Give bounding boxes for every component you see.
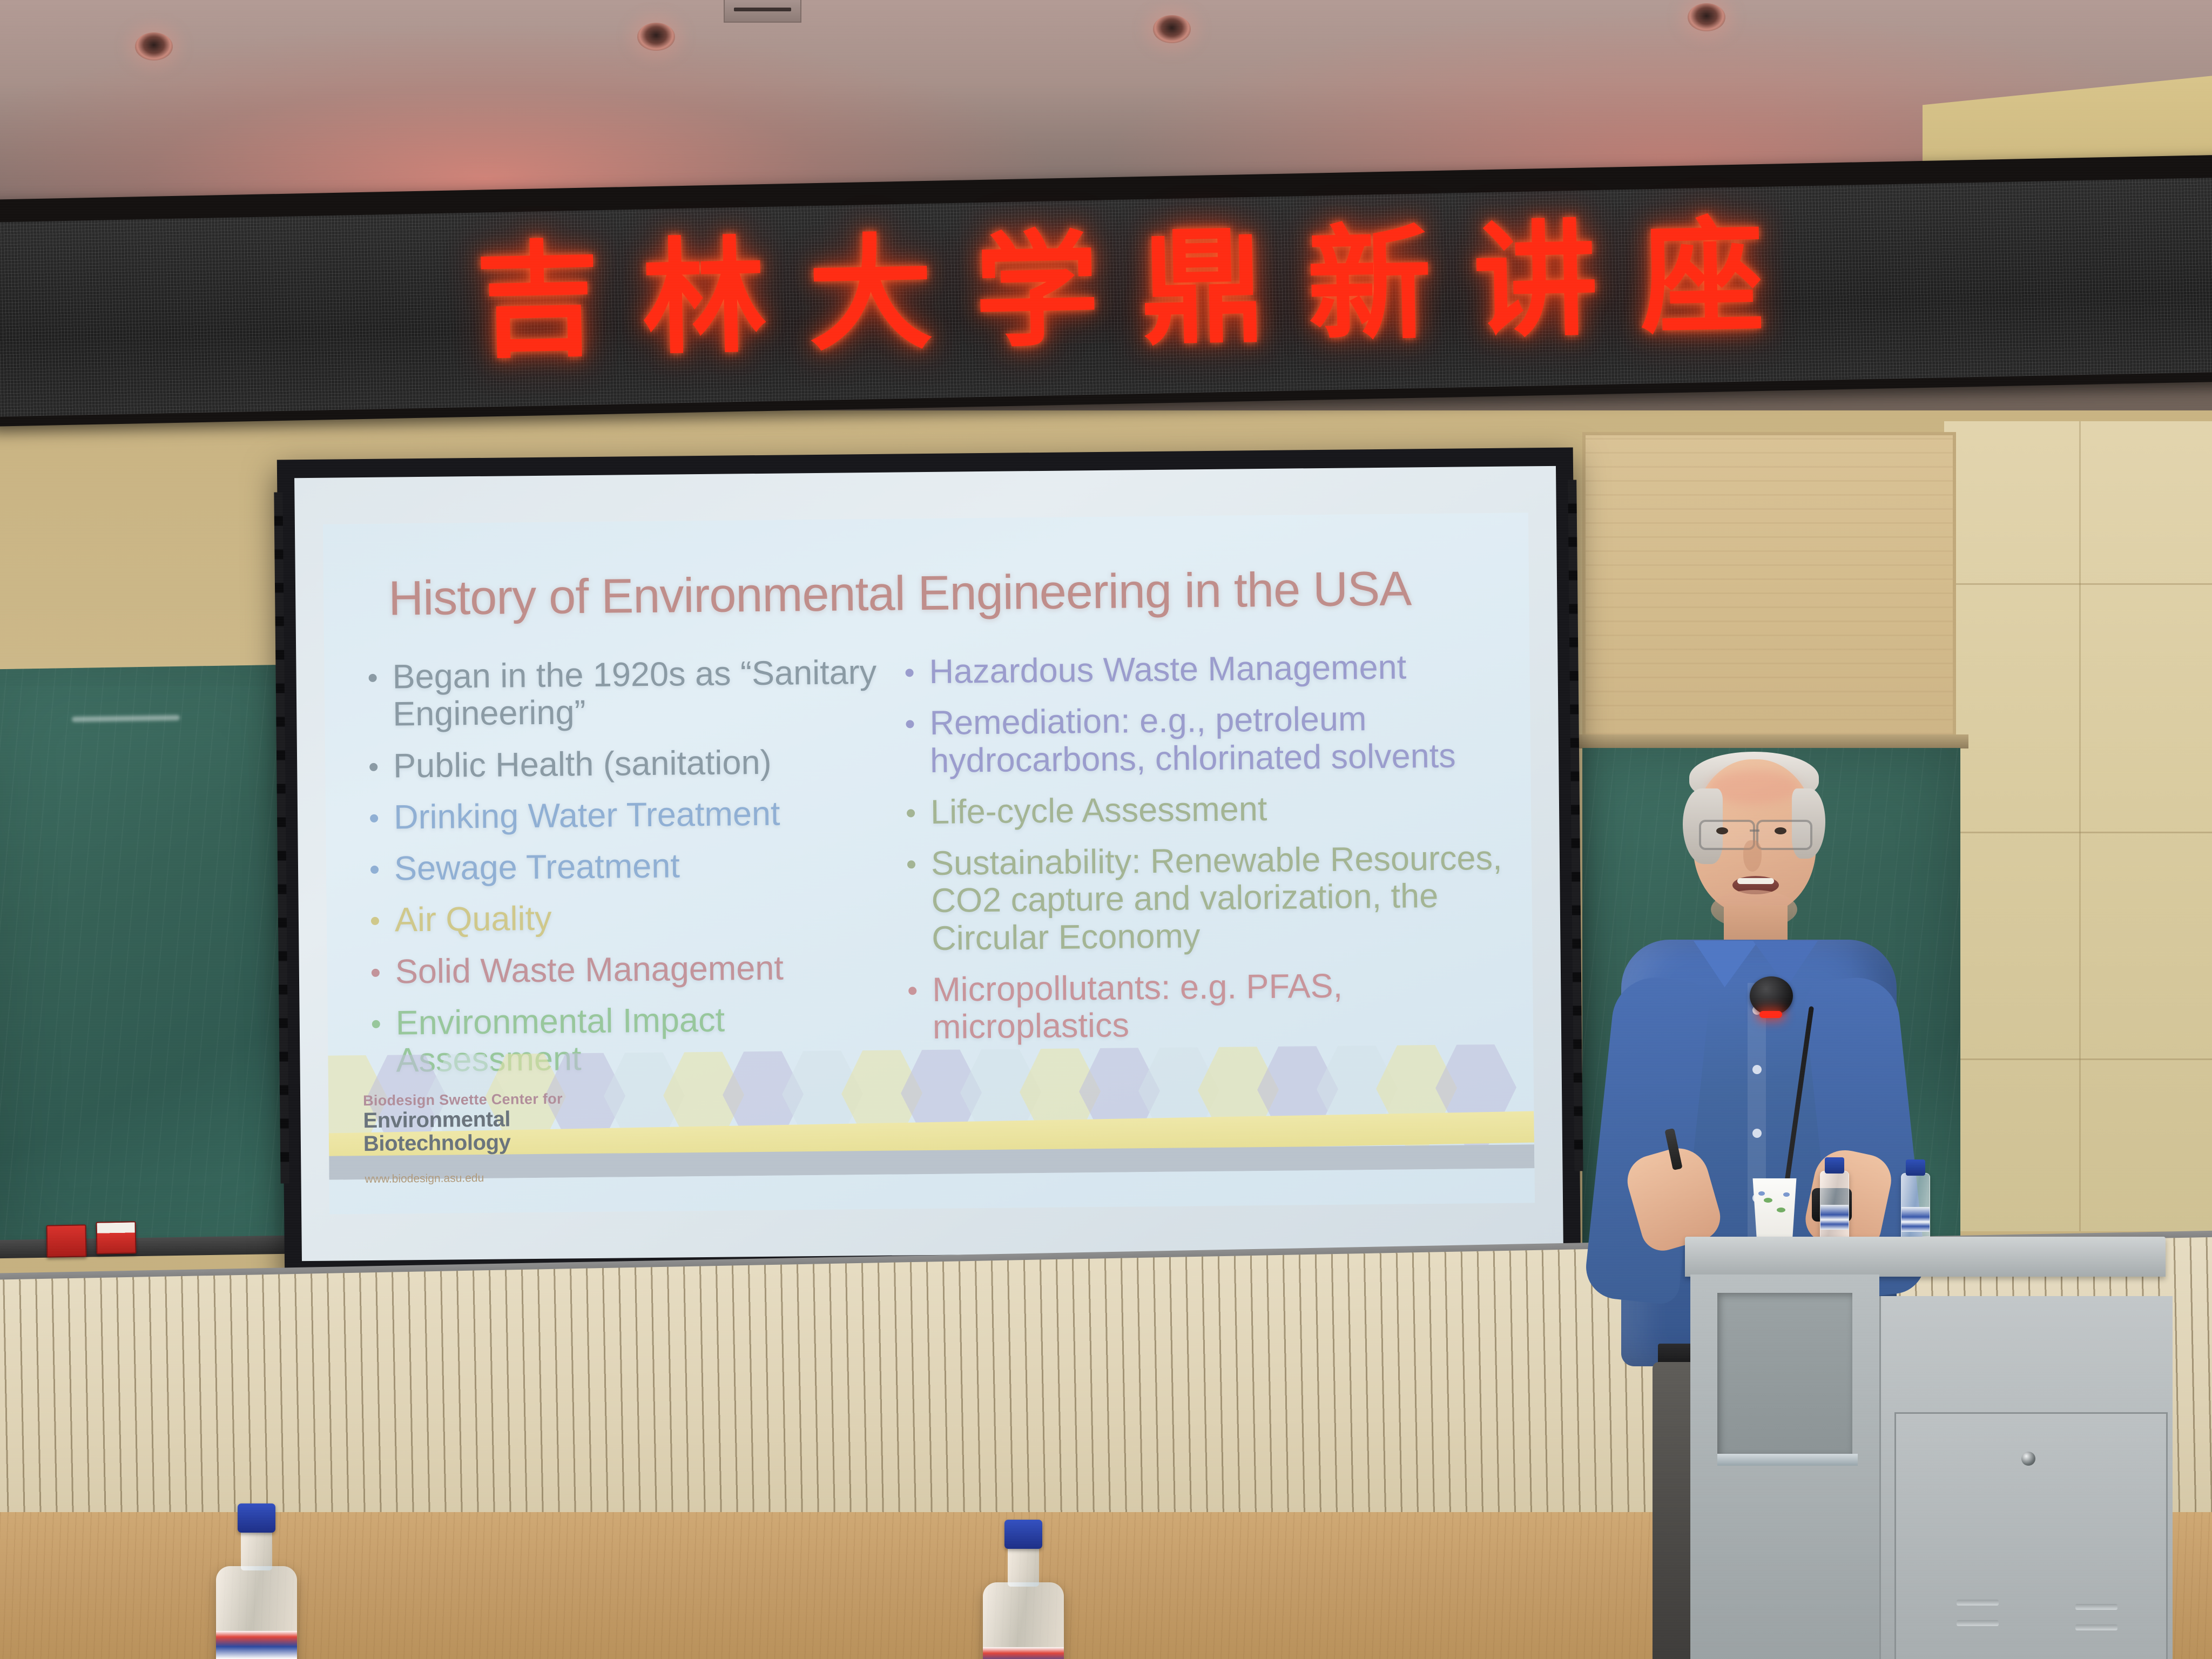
podium-cabinet [1879, 1296, 2173, 1659]
bullet-dot-icon [371, 917, 379, 925]
presentation-slide: History of Environmental Engineering in … [323, 512, 1535, 1214]
bottle-cap [1906, 1159, 1925, 1176]
lock-icon[interactable] [2021, 1452, 2035, 1466]
bottle-label [983, 1647, 1064, 1659]
bullet-dot-icon [372, 969, 380, 977]
bullet-text: Life-cycle Assessment [930, 790, 1267, 831]
cabinet-vent [1957, 1600, 1999, 1606]
list-item: Micropollutants: e.g. PFAS, microplastic… [904, 966, 1512, 1047]
eye [1716, 827, 1728, 834]
bullet-dot-icon [370, 814, 378, 822]
right-wall-panels [1944, 421, 2212, 1231]
bottle-label [1901, 1207, 1930, 1232]
bottle-cap [1004, 1520, 1042, 1549]
chalkboard-left [0, 665, 301, 1253]
ceiling-downlight [1153, 15, 1191, 43]
list-item: Remediation: e.g., petroleum hydrocarbon… [901, 699, 1509, 780]
shirt-button [1752, 1129, 1762, 1138]
list-item: Public Health (sanitation) [365, 743, 884, 785]
slide-column-right: Hazardous Waste Management Remediation: … [901, 648, 1512, 1089]
logo-url: www.biodesign.asu.edu [365, 1172, 484, 1186]
bullet-text: Public Health (sanitation) [393, 743, 772, 785]
bullet-text: Began in the 1920s as “Sanitary Engineer… [392, 653, 876, 733]
bullet-dot-icon [906, 720, 914, 729]
podium-shelf [1717, 1293, 1852, 1455]
microphone-icon [1750, 976, 1793, 1015]
water-bottle [983, 1582, 1064, 1659]
cup-dot-decor [1758, 1191, 1765, 1196]
ceiling-vent [724, 0, 801, 23]
podium-drawer-rail [1717, 1454, 1858, 1466]
slide-column-left: Began in the 1920s as “Sanitary Engineer… [364, 654, 887, 1094]
bullet-dot-icon [372, 1020, 380, 1028]
bullet-text: Sustainability: Renewable Resources, CO2… [931, 839, 1502, 957]
bullet-dot-icon [908, 987, 916, 995]
bottle-label [1820, 1205, 1849, 1230]
logo-line-2: Environmental [363, 1107, 563, 1132]
list-item: Hazardous Waste Management [901, 648, 1508, 691]
ceiling-downlight [135, 32, 173, 60]
ceiling-downlight [1688, 3, 1725, 31]
cup-leaf-decor [1777, 1208, 1785, 1212]
glasses-bridge [1750, 829, 1759, 832]
biodesign-logo: Biodesign Swette Center for Environmenta… [363, 1091, 563, 1156]
chalk-box [46, 1224, 86, 1257]
bullet-dot-icon [369, 763, 377, 771]
bullet-text: Drinking Water Treatment [394, 795, 780, 837]
podium-cabinet-door[interactable] [1894, 1412, 2168, 1659]
list-item: Sustainability: Renewable Resources, CO2… [903, 840, 1511, 958]
ceiling-downlight [637, 23, 675, 51]
bullet-list-left: Began in the 1920s as “Sanitary Engineer… [364, 654, 886, 1080]
shirt-button [1752, 1065, 1762, 1074]
cabinet-vent [2075, 1604, 2117, 1610]
cabinet-vent [1957, 1620, 1999, 1626]
list-item: Drinking Water Treatment [366, 794, 885, 837]
list-item: Life-cycle Assessment [902, 788, 1510, 832]
bottle-cap [238, 1503, 275, 1533]
bullet-dot-icon [370, 866, 379, 874]
slide-columns: Began in the 1920s as “Sanitary Engineer… [364, 648, 1512, 1094]
bullet-text: Solid Waste Management [395, 949, 784, 990]
bullet-dot-icon [906, 669, 914, 677]
logo-line-3: Biotechnology [363, 1130, 563, 1156]
projection-surface: History of Environmental Engineering in … [294, 466, 1563, 1261]
bottle-label [216, 1631, 297, 1659]
wood-panel-right [1582, 432, 1956, 752]
bullet-dot-icon [369, 674, 377, 682]
nose [1743, 840, 1762, 872]
paper-cup [1750, 1178, 1799, 1239]
led-banner: 吉林大学鼎新讲座 [0, 154, 2212, 427]
bullet-text: Hazardous Waste Management [929, 648, 1406, 690]
microphone-status-light [1759, 1011, 1782, 1018]
bullet-dot-icon [907, 809, 915, 817]
list-item: Sewage Treatment [366, 846, 885, 888]
slide-title: History of Environmental Engineering in … [388, 561, 1486, 627]
bullet-text: Air Quality [395, 900, 552, 939]
cup-leaf-decor [1764, 1198, 1772, 1203]
list-item: Air Quality [367, 897, 886, 940]
bottle-cap [1825, 1157, 1844, 1174]
cup-dot-decor [1783, 1192, 1790, 1197]
bullet-dot-icon [907, 860, 915, 868]
projection-screen: History of Environmental Engineering in … [277, 448, 1581, 1281]
glasses-icon [1756, 820, 1812, 850]
lecture-hall-photo: 吉林大学鼎新讲座 History of Environmental Engine… [0, 0, 2212, 1659]
bullet-text: Remediation: e.g., petroleum hydrocarbon… [929, 700, 1456, 780]
bullet-list-right: Hazardous Waste Management Remediation: … [901, 648, 1512, 1047]
logo-line-1: Biodesign Swette Center for [363, 1091, 563, 1109]
list-item: Began in the 1920s as “Sanitary Engineer… [364, 654, 883, 734]
podium-top [1685, 1237, 2166, 1277]
chalk-box [96, 1221, 136, 1254]
bullet-text: Micropollutants: e.g. PFAS, microplastic… [932, 967, 1343, 1047]
list-item: Solid Waste Management [367, 949, 886, 992]
bullet-text: Sewage Treatment [394, 847, 680, 888]
water-bottle [216, 1566, 297, 1659]
podium [1685, 1237, 2171, 1659]
eye [1775, 827, 1786, 834]
cabinet-vent [2075, 1624, 2117, 1630]
wood-shelf-right [1569, 734, 1968, 748]
